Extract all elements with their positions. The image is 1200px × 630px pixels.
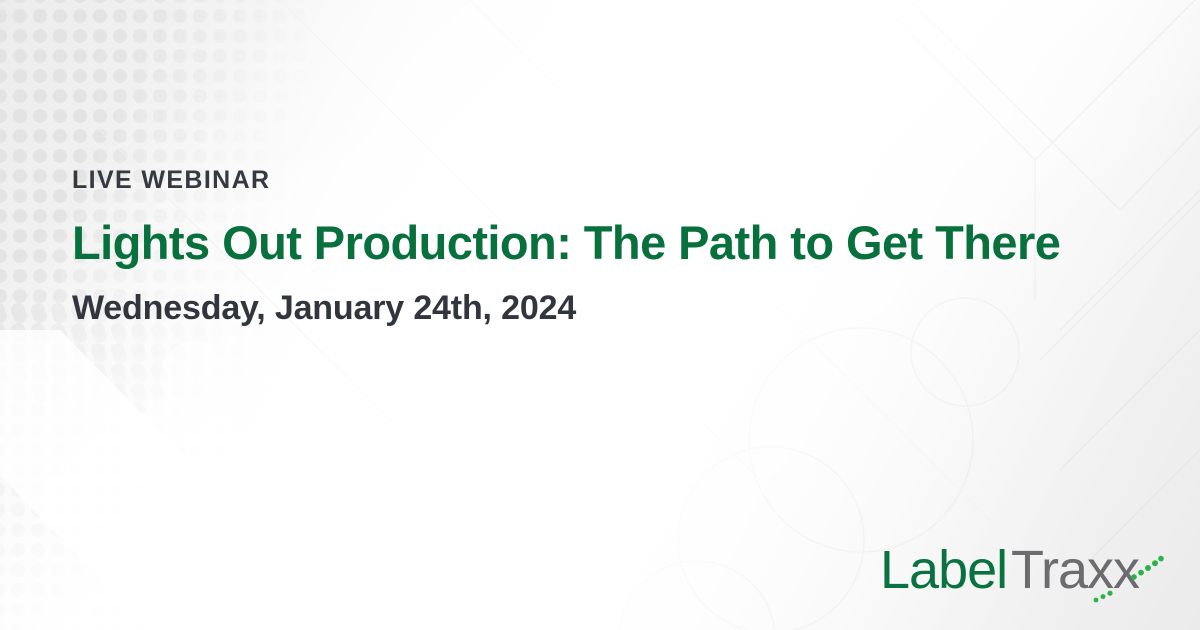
labeltraxx-logo[interactable]: Label Traxx xyxy=(880,538,1172,608)
eyebrow-label: LIVE WEBINAR xyxy=(72,168,1152,193)
banner-text-block: LIVE WEBINAR Lights Out Production: The … xyxy=(72,168,1152,325)
webinar-date: Wednesday, January 24th, 2024 xyxy=(72,291,1152,325)
logo-word-label: Label xyxy=(880,540,1007,600)
logo-word-traxx: Traxx xyxy=(1011,540,1140,600)
page-title: Lights Out Production: The Path to Get T… xyxy=(72,219,1152,267)
webinar-banner: LIVE WEBINAR Lights Out Production: The … xyxy=(0,0,1200,630)
